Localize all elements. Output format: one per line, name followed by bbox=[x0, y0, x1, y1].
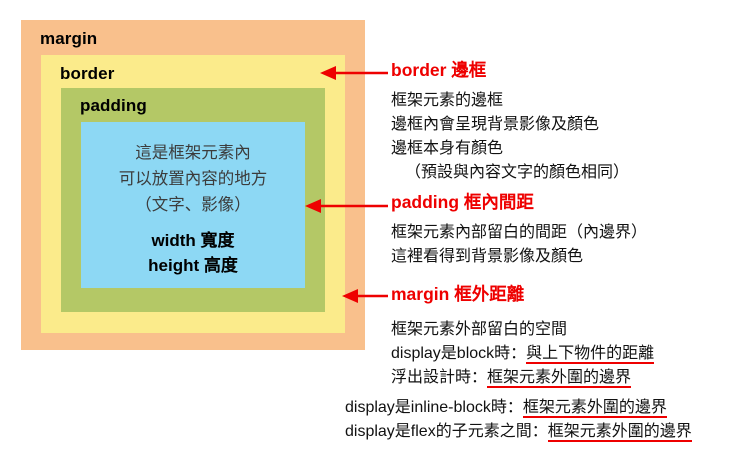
content-description-line-1: 這是框架元素內 bbox=[81, 140, 305, 166]
callout-margin-line-1: 框架元素外部留白的空間 bbox=[391, 318, 654, 342]
callout-margin-rule-1-emphasis: 與上下物件的距離 bbox=[526, 345, 654, 364]
callout-border-line-3: 邊框本身有顏色 bbox=[391, 137, 629, 161]
callout-border-line-4: （預設與內容文字的顏色相同） bbox=[391, 161, 629, 185]
padding-box: padding 這是框架元素內 可以放置內容的地方 （文字、影像） width … bbox=[61, 88, 325, 312]
callout-margin-rule-1-prefix: display是block時： bbox=[391, 345, 526, 362]
callout-border-line-1: 框架元素的邊框 bbox=[391, 89, 629, 113]
callout-padding-line-2: 這裡看得到背景影像及顏色 bbox=[391, 245, 647, 269]
margin-box: margin border padding 這是框架元素內 可以放置內容的地方 … bbox=[21, 20, 365, 350]
callout-margin-rule-4-emphasis: 框架元素外圍的邊界 bbox=[548, 423, 692, 442]
callout-body-padding: 框架元素內部留白的間距（內邊界） 這裡看得到背景影像及顏色 bbox=[391, 221, 647, 269]
callout-margin-rule-3-prefix: display是inline-block時： bbox=[345, 399, 523, 416]
content-box: 這是框架元素內 可以放置內容的地方 （文字、影像） width 寬度 heigh… bbox=[81, 122, 305, 288]
content-description: 這是框架元素內 可以放置內容的地方 （文字、影像） bbox=[81, 122, 305, 218]
callout-body-margin: 框架元素外部留白的空間 display是block時：與上下物件的距離 浮出設計… bbox=[391, 318, 654, 390]
padding-box-label: padding bbox=[80, 97, 147, 114]
border-box: border padding 這是框架元素內 可以放置內容的地方 （文字、影像）… bbox=[41, 55, 345, 333]
callout-body-margin-extra: display是inline-block時：框架元素外圍的邊界 display是… bbox=[345, 396, 692, 444]
callout-margin-rule-3: display是inline-block時：框架元素外圍的邊界 bbox=[345, 396, 692, 420]
content-description-line-3: （文字、影像） bbox=[81, 192, 305, 218]
callout-margin-rule-3-emphasis: 框架元素外圍的邊界 bbox=[523, 399, 667, 418]
content-dimensions: width 寬度 height 高度 bbox=[81, 218, 305, 278]
content-description-line-2: 可以放置內容的地方 bbox=[81, 166, 305, 192]
callout-margin-rule-2-prefix: 浮出設計時： bbox=[391, 369, 487, 386]
callout-margin-rule-1: display是block時：與上下物件的距離 bbox=[391, 342, 654, 366]
callout-margin-rule-4-prefix: display是flex的子元素之間： bbox=[345, 423, 548, 440]
callout-margin-rule-4: display是flex的子元素之間：框架元素外圍的邊界 bbox=[345, 420, 692, 444]
callout-body-border: 框架元素的邊框 邊框內會呈現背景影像及顏色 邊框本身有顏色 （預設與內容文字的顏… bbox=[391, 89, 629, 185]
content-height-label: height 高度 bbox=[81, 253, 305, 278]
margin-arrow bbox=[340, 286, 388, 306]
callout-title-border: border 邊框 bbox=[391, 62, 486, 80]
padding-arrow bbox=[303, 196, 388, 216]
callout-title-margin: margin 框外距離 bbox=[391, 286, 524, 304]
callout-margin-rule-2: 浮出設計時：框架元素外圍的邊界 bbox=[391, 366, 654, 390]
callout-title-padding: padding 框內間距 bbox=[391, 194, 534, 212]
border-box-label: border bbox=[60, 65, 114, 82]
border-arrow bbox=[318, 63, 388, 83]
callout-border-line-2: 邊框內會呈現背景影像及顏色 bbox=[391, 113, 629, 137]
margin-box-label: margin bbox=[40, 30, 97, 47]
callout-margin-rule-2-emphasis: 框架元素外圍的邊界 bbox=[487, 369, 631, 388]
content-width-label: width 寬度 bbox=[81, 228, 305, 253]
callout-padding-line-1: 框架元素內部留白的間距（內邊界） bbox=[391, 221, 647, 245]
